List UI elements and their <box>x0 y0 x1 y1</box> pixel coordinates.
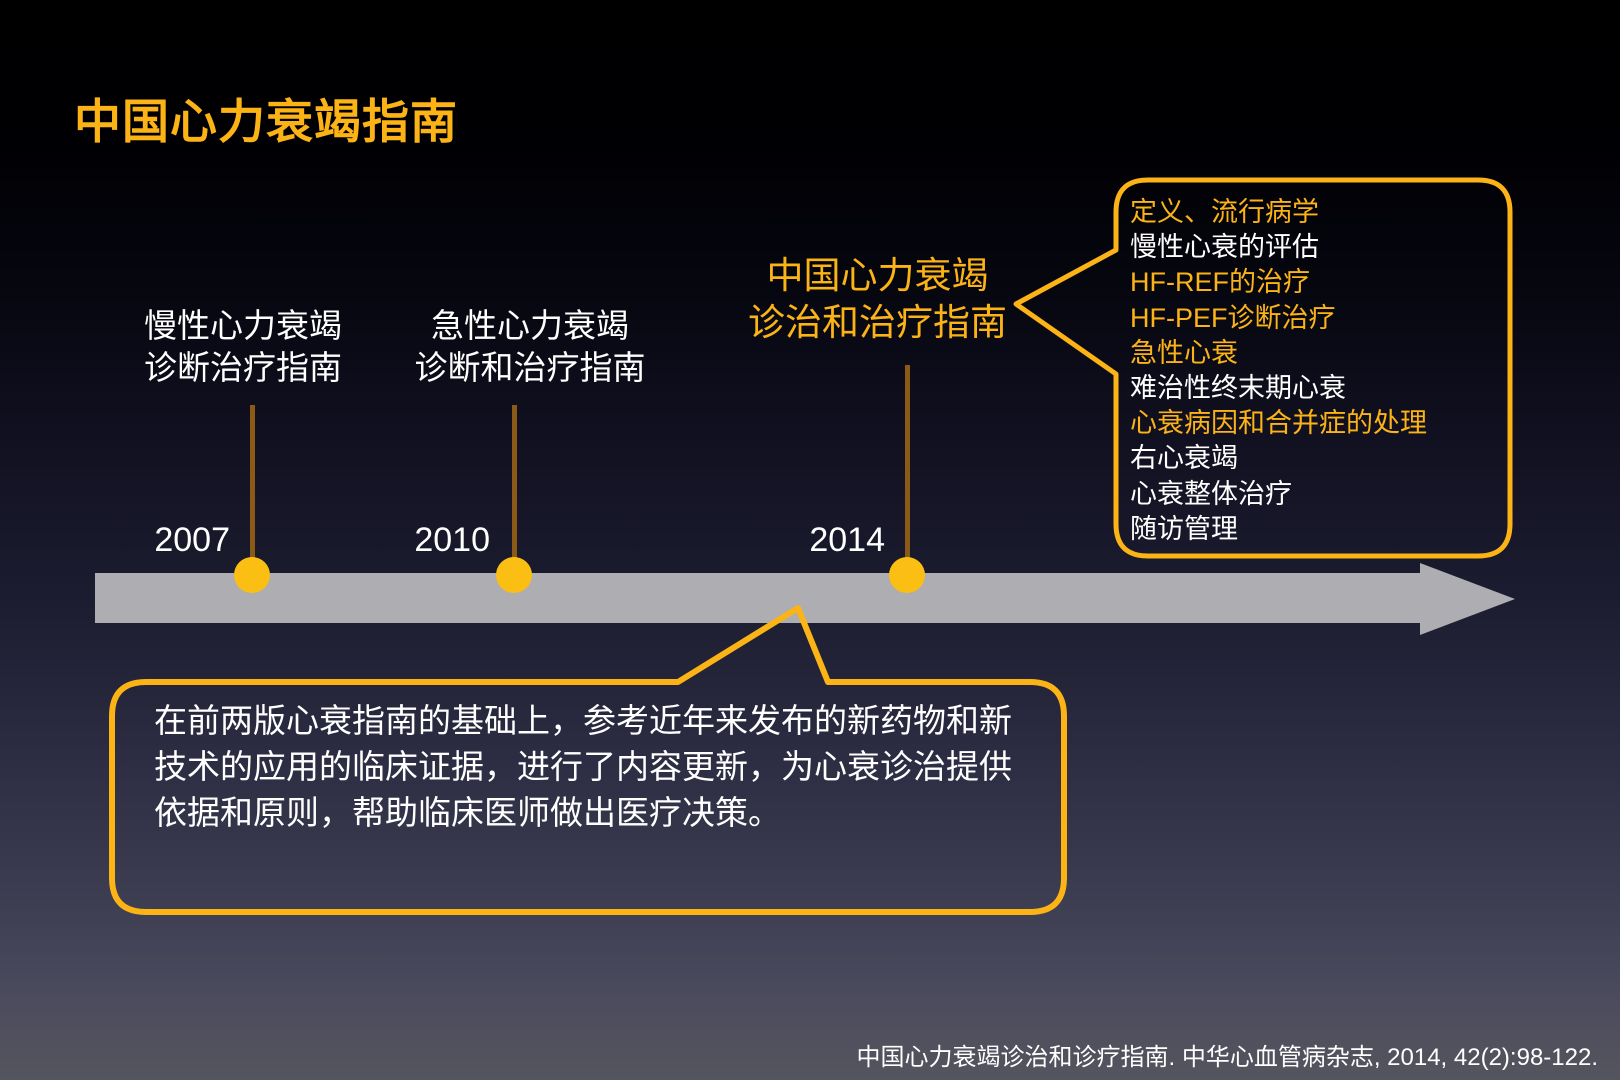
milestone-label-line1: 慢性心力衰竭 <box>118 305 368 347</box>
footer-citation: 中国心力衰竭诊治和诊疗指南. 中华心血管病杂志, 2014, 42(2):98-… <box>857 1037 1599 1072</box>
summary-callout: 在前两版心衰指南的基础上，参考近年来发布的新药物和新技术的应用的临床证据，进行了… <box>108 620 1068 916</box>
page-title: 中国心力衰竭指南 <box>74 97 458 146</box>
milestone-label-2007: 慢性心力衰竭 诊断治疗指南 <box>118 305 368 389</box>
slide-canvas: 中国心力衰竭指南 慢性心力衰竭 诊断治疗指南 2007 急性心力衰竭 诊断和治疗… <box>0 0 1620 1080</box>
milestone-stem-2010 <box>512 405 517 575</box>
topic-item: HF-PEF诊断治疗 <box>1130 301 1502 336</box>
topics-callout: 定义、流行病学 慢性心衰的评估 HF-REF的治疗 HF-PEF诊断治疗 急性心… <box>1112 178 1512 558</box>
milestone-label-line2: 诊断治疗指南 <box>118 347 368 389</box>
topic-item: 心衰整体治疗 <box>1130 477 1502 512</box>
topic-item: 随访管理 <box>1130 512 1502 547</box>
summary-text: 在前两版心衰指南的基础上，参考近年来发布的新药物和新技术的应用的临床证据，进行了… <box>154 698 1030 836</box>
milestone-label-line2: 诊治和治疗指南 <box>705 299 1050 346</box>
topics-list: 定义、流行病学 慢性心衰的评估 HF-REF的治疗 HF-PEF诊断治疗 急性心… <box>1130 195 1502 547</box>
milestone-year-2007: 2007 <box>150 521 230 560</box>
milestone-year-2010: 2010 <box>410 521 490 560</box>
topic-item: 心衰病因和合并症的处理 <box>1130 406 1502 441</box>
topic-item: 急性心衰 <box>1130 336 1502 371</box>
timeline-arrow-bar <box>95 573 1425 623</box>
milestone-label-line2: 诊断和治疗指南 <box>385 347 675 389</box>
milestone-label-2010: 急性心力衰竭 诊断和治疗指南 <box>385 305 675 389</box>
milestone-dot-2010 <box>496 557 532 593</box>
topic-item: 定义、流行病学 <box>1130 195 1502 230</box>
topic-item: 右心衰竭 <box>1130 441 1502 476</box>
milestone-stem-2014 <box>905 365 910 575</box>
milestone-label-line1: 中国心力衰竭 <box>705 252 1050 299</box>
milestone-label-2014: 中国心力衰竭 诊治和治疗指南 <box>705 252 1050 347</box>
milestone-dot-2014 <box>889 557 925 593</box>
topic-item: 慢性心衰的评估 <box>1130 230 1502 265</box>
milestone-label-line1: 急性心力衰竭 <box>385 305 675 347</box>
topic-item: HF-REF的治疗 <box>1130 265 1502 300</box>
topic-item: 难治性终末期心衰 <box>1130 371 1502 406</box>
milestone-year-2014: 2014 <box>805 521 885 560</box>
milestone-dot-2007 <box>234 557 270 593</box>
milestone-stem-2007 <box>250 405 255 575</box>
timeline-arrow-head <box>1420 563 1515 635</box>
